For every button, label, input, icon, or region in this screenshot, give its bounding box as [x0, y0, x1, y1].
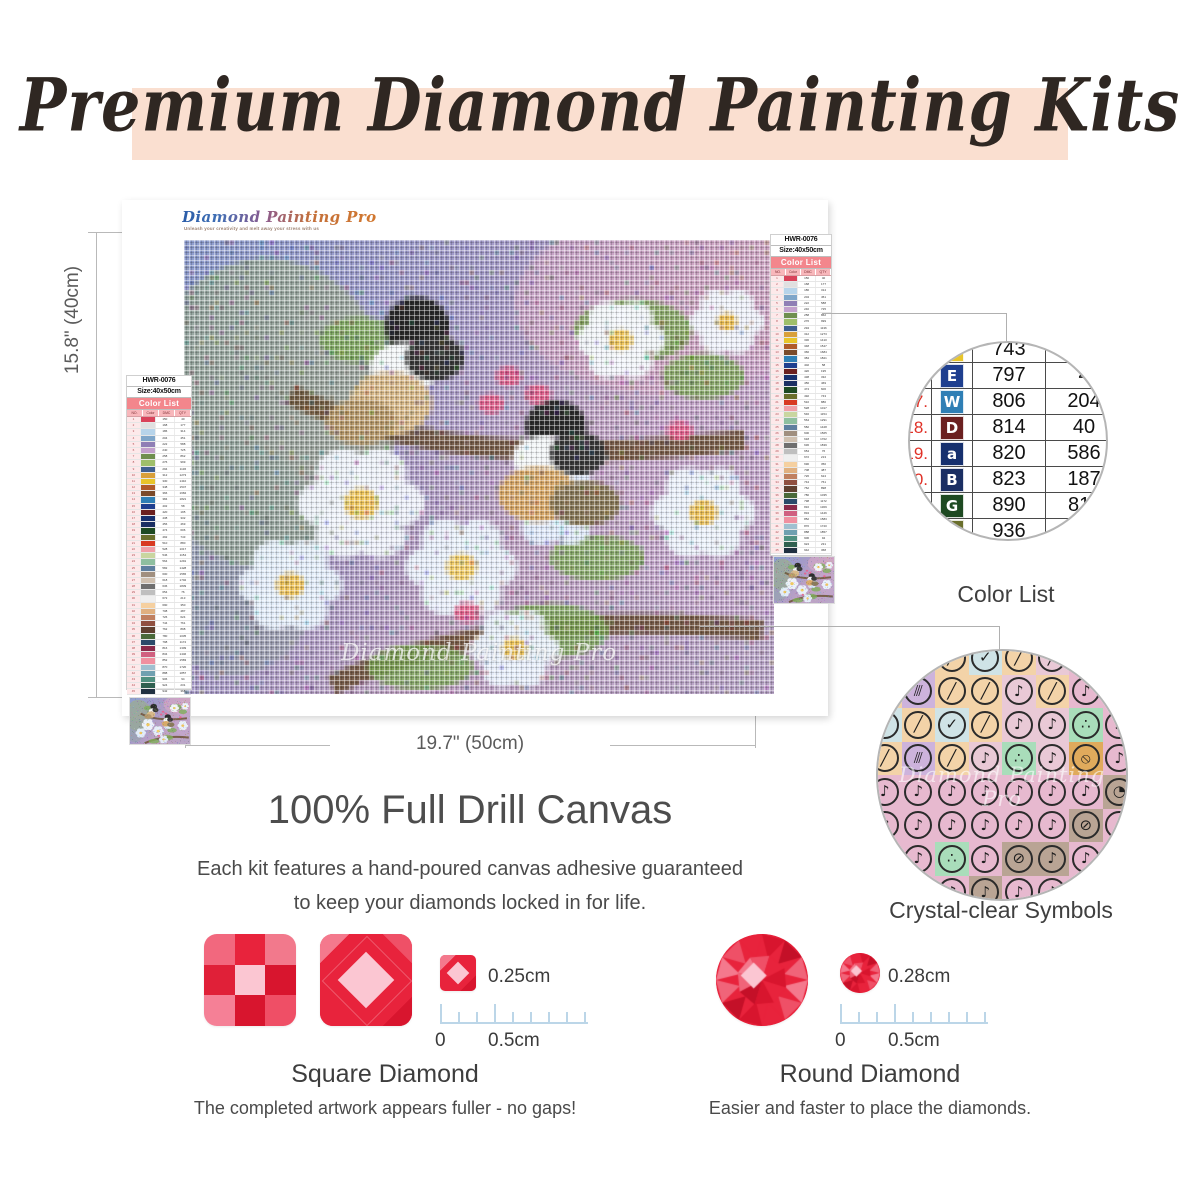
row-number: 4: [127, 436, 140, 441]
color-list-header-right: NO. Color DMC QTY: [771, 269, 831, 276]
dmc-count: 1702: [815, 437, 831, 442]
dmc-count: 1857: [174, 671, 191, 676]
dmc-code: 726: [156, 615, 174, 620]
row-number: 17: [771, 375, 783, 380]
ruler-tick-minor-5: [948, 1012, 950, 1022]
color-list-title-left: Color List: [127, 398, 191, 410]
row-number: 24: [771, 418, 783, 423]
row-number: 12: [771, 344, 783, 349]
dmc-count: 177: [174, 423, 191, 428]
ruler-tick-minor-2: [876, 1012, 878, 1022]
dmc-count: 350: [815, 462, 831, 467]
row-number: 9: [771, 326, 783, 331]
color-swatch: [140, 689, 156, 694]
symbol-cell: ♪: [969, 742, 1003, 776]
symbol-cell: ╱: [969, 675, 1003, 709]
row-number: 45: [127, 689, 140, 694]
color-swatch: [140, 646, 156, 651]
dmc-code: 438: [156, 516, 174, 521]
row-number: 22: [127, 547, 140, 552]
color-swatch: [783, 363, 798, 368]
row-number: 1.: [908, 493, 931, 518]
symbol-cell: ╱: [969, 708, 1003, 742]
color-swatch: [140, 683, 156, 688]
color-symbol-swatch: ◠: [931, 341, 973, 362]
symbol-cell: ╱: [1036, 675, 1070, 709]
dmc-code: 564: [156, 559, 174, 564]
dmc-code: 672: [798, 455, 815, 460]
row-number: 28: [127, 584, 140, 589]
ruler-tick-minor-3: [512, 1012, 514, 1022]
color-swatch: [783, 480, 798, 485]
dmc-count: 451: [174, 436, 191, 441]
symbol-cell: ⫻: [902, 742, 936, 776]
row-number: 23: [771, 412, 783, 417]
square-ruler: 0 0.5cm: [440, 1000, 588, 1056]
color-symbol-swatch: a: [931, 441, 973, 466]
dmc-code: 798: [156, 640, 174, 645]
dmc-count: 1136: [815, 326, 831, 331]
dmc-code: 510: [156, 541, 174, 546]
color-swatch: [140, 640, 156, 645]
dmc-count: 469: [815, 381, 831, 386]
color-swatch: [140, 454, 156, 459]
color-swatch: [140, 627, 156, 632]
dmc-code: 708: [798, 468, 815, 473]
color-list-row: 45942368: [127, 689, 191, 695]
square-gem-medium: [320, 934, 412, 1026]
connector-colorlist-h: [822, 313, 1007, 314]
dmc-count: 332: [174, 516, 191, 521]
mosaic-artwork: Diamond Painting Pro: [184, 240, 774, 694]
row-number: 16: [771, 369, 783, 374]
ruler-tick-minor-1: [858, 1012, 860, 1022]
dmc-count: 761: [174, 621, 191, 626]
ruler-tick-minor-7: [984, 1012, 986, 1022]
dmc-code: 743: [973, 341, 1046, 362]
row-number: 38: [127, 646, 140, 651]
color-swatch: [140, 497, 156, 502]
symbol-cell: ⊘: [1069, 809, 1103, 843]
dmc-count: 1154: [815, 412, 831, 417]
dmc-count: 743: [174, 535, 191, 540]
color-swatch: [783, 313, 798, 318]
dmc-code: 888: [156, 671, 174, 676]
dmc-code: 384: [798, 356, 815, 361]
symbol-cell: ╱: [935, 675, 969, 709]
row-number: 3: [771, 288, 783, 293]
dmc-count: 898: [174, 627, 191, 632]
row-number: 44: [771, 542, 783, 547]
dmc-code: 204: [798, 295, 815, 300]
row-number: 14: [771, 356, 783, 361]
dmc-code: 384: [156, 497, 174, 502]
dmc-count: 999: [174, 460, 191, 465]
round-gem-large: [716, 934, 808, 1026]
dmc-count: 177: [815, 282, 831, 287]
dmc-count: 1839: [815, 443, 831, 448]
row-number: [908, 363, 931, 388]
symbol-cell: ◔: [1103, 775, 1129, 809]
dmc-code: 168: [798, 282, 815, 287]
color-list-rows-right: 1150402168177318631442044515222588624072…: [771, 276, 831, 554]
dmc-code: 744: [798, 480, 815, 485]
dmc-count: 1428: [174, 566, 191, 571]
col-qty: QTY: [816, 269, 831, 275]
row-number: 11: [127, 479, 140, 484]
color-swatch: [783, 344, 798, 349]
square-diamond-description: The completed artwork appears fuller - n…: [100, 1098, 670, 1119]
color-swatch: [140, 634, 156, 639]
col-no: NO.: [771, 269, 786, 275]
color-swatch: [783, 455, 798, 460]
row-number: 9: [127, 467, 140, 472]
dmc-code: 797: [973, 363, 1046, 388]
dmc-count: 1720: [815, 524, 831, 529]
dmc-code: 780: [156, 634, 174, 639]
dmc-count: 586: [1046, 441, 1108, 466]
dmc-count: 1583: [815, 517, 831, 522]
color-swatch: [140, 652, 156, 657]
dmc-count: 187: [1046, 467, 1108, 492]
symbol-cell: ♪: [1069, 842, 1103, 876]
row-number: 12: [127, 485, 140, 490]
row-number: 30: [771, 455, 783, 460]
dmc-count: 1273: [174, 473, 191, 478]
dmc-count: 1583: [174, 658, 191, 663]
color-swatch: [783, 536, 798, 541]
color-symbol-swatch: B: [931, 467, 973, 492]
dmc-code: 834: [156, 652, 174, 657]
row-number: [908, 519, 931, 541]
round-ruler-zero: 0: [835, 1030, 846, 1052]
color-swatch: [140, 504, 156, 509]
dmc-code: 168: [156, 423, 174, 428]
dmc-code: 420: [798, 369, 815, 374]
dmc-count: 469: [174, 522, 191, 527]
dmc-count: 1410: [815, 338, 831, 343]
color-swatch: [140, 615, 156, 620]
row-number: 41: [771, 524, 783, 529]
ruler-tick-minor-6: [566, 1012, 568, 1022]
color-swatch: [783, 332, 798, 337]
symbol-cell: ♪: [1069, 775, 1103, 809]
symbol-cell: ♪: [876, 809, 902, 843]
color-swatch: [783, 517, 798, 522]
row-number: 22: [771, 406, 783, 411]
symbol-cell: ⦸: [1069, 742, 1103, 776]
row-number: 1: [127, 417, 140, 422]
dmc-count: 40: [174, 417, 191, 422]
dmc-count: 76: [174, 590, 191, 595]
dmc-code: 312: [798, 332, 815, 337]
symbol-cell: ⫻: [902, 675, 936, 709]
kit-size-left: Size:40x50cm: [127, 387, 191, 398]
dmc-count: 76: [815, 449, 831, 454]
dmc-code: 726: [798, 474, 815, 479]
magnified-color-table: ◠743E79747.W80620418.D8144019.a82058620.…: [908, 341, 1108, 541]
dmc-count: 368: [174, 689, 191, 694]
dmc-count: 1720: [174, 665, 191, 670]
col-no: NO.: [127, 410, 143, 416]
ruler-tick-minor-1: [458, 1012, 460, 1022]
dmc-code: 474: [156, 528, 174, 533]
dmc-code: 690: [156, 603, 174, 608]
drill-grid-overlay: [184, 240, 774, 694]
color-swatch: [783, 524, 798, 529]
row-number: 21: [127, 541, 140, 546]
dmc-count: 624: [174, 615, 191, 620]
col-dmc: DMC: [159, 410, 175, 416]
color-symbol-swatch: C: [931, 519, 973, 541]
dmc-count: 40: [815, 276, 831, 281]
dmc-count: 880: [815, 400, 831, 405]
dmc-count: 9: [1046, 519, 1108, 541]
dmc-count: 1410: [174, 479, 191, 484]
color-swatch: [783, 462, 798, 467]
color-swatch: [140, 572, 156, 577]
dmc-count: 1291: [174, 559, 191, 564]
symbol-cell: ♪: [1002, 708, 1036, 742]
row-number: 24: [127, 559, 140, 564]
dmc-count: 231: [815, 542, 831, 547]
dmc-count: 487: [174, 609, 191, 614]
color-swatch: [140, 541, 156, 546]
dmc-count: 761: [815, 480, 831, 485]
dmc-code: 618: [798, 437, 815, 442]
row-number: 30: [127, 596, 140, 601]
dmc-count: 451: [815, 295, 831, 300]
color-swatch: [140, 559, 156, 564]
dmc-code: 852: [156, 658, 174, 663]
dmc-code: 420: [156, 510, 174, 515]
color-list-title-right: Color List: [771, 257, 831, 269]
row-number: 7: [127, 454, 140, 459]
ruler-tick-minor-4: [530, 1012, 532, 1022]
color-swatch: [140, 584, 156, 589]
symbol-cell: ♪: [1103, 708, 1129, 742]
col-dmc: DMC: [801, 269, 816, 275]
round-gem-small: [840, 953, 880, 993]
dmc-count: 204: [1046, 389, 1108, 414]
dmc-code: 806: [973, 389, 1046, 414]
color-swatch: [783, 412, 798, 417]
row-number: 8: [771, 319, 783, 324]
dmc-code: 258: [798, 313, 815, 318]
symbol-cell: ♪: [1036, 775, 1070, 809]
row-number: 26: [127, 572, 140, 577]
color-swatch: [140, 516, 156, 521]
square-diamond-title: Square Diamond: [130, 1060, 640, 1089]
dmc-count: 213: [174, 596, 191, 601]
dmc-code: 708: [156, 609, 174, 614]
symbol-cell: ♪: [969, 775, 1003, 809]
canvas-sheet[interactable]: Diamond Painting Pro Unleash your creati…: [122, 200, 828, 716]
magnified-color-row: 18.D81440: [908, 415, 1108, 441]
dmc-count: 1565: [174, 572, 191, 577]
col-color: Color: [786, 269, 801, 275]
dmc-code: 890: [973, 493, 1046, 518]
color-swatch: [140, 609, 156, 614]
color-swatch: [783, 282, 798, 287]
dmc-code: 823: [973, 467, 1046, 492]
color-swatch: [783, 400, 798, 405]
dmc-code: 942: [156, 689, 174, 694]
dmc-code: 402: [798, 363, 815, 368]
dmc-code: 618: [156, 578, 174, 583]
row-number: 19: [771, 387, 783, 392]
round-size-label: 0.28cm: [888, 966, 950, 988]
dmc-code: 348: [156, 485, 174, 490]
dmc-code: 510: [798, 400, 815, 405]
kit-code-right: HWR-0076: [771, 235, 831, 246]
dmc-count: 1017: [815, 406, 831, 411]
dmc-code: 546: [798, 412, 815, 417]
round-ruler: 0 0.5cm: [840, 1000, 988, 1056]
dmc-count: 1309: [174, 646, 191, 651]
dmc-count: 1172: [174, 640, 191, 645]
color-swatch: [140, 467, 156, 472]
dmc-code: 366: [156, 491, 174, 496]
color-swatch: [140, 578, 156, 583]
color-list-strip-right[interactable]: HWR-0076 Size:40x50cm Color List NO. Col…: [770, 234, 832, 556]
magnified-color-row: 7.W806204: [908, 389, 1108, 415]
symbol-cell: ♪: [902, 775, 936, 809]
row-number: 35: [127, 627, 140, 632]
dmc-code: 636: [798, 443, 815, 448]
row-number: 27: [127, 578, 140, 583]
row-number: 2: [771, 282, 783, 287]
color-swatch: [783, 418, 798, 423]
color-swatch: [783, 276, 798, 281]
square-gem-small: [440, 955, 476, 991]
color-swatch: [783, 301, 798, 306]
color-swatch: [140, 460, 156, 465]
kit-code-left: HWR-0076: [127, 376, 191, 387]
dmc-count: 1273: [815, 332, 831, 337]
dmc-code: 936: [973, 519, 1046, 541]
ruler-tick-major-0: [440, 1004, 442, 1022]
artwork-watermark: Diamond Painting Pro: [184, 640, 774, 666]
dmc-count: 332: [815, 375, 831, 380]
caption-color-list: Color List: [860, 581, 1152, 608]
symbol-cell: ♪: [902, 842, 936, 876]
row-number: 8: [127, 460, 140, 465]
dmc-count: 1446: [174, 652, 191, 657]
dmc-count: 1291: [815, 418, 831, 423]
symbol-cell: ∴: [1069, 708, 1103, 742]
symbol-cell: ╱: [902, 649, 936, 675]
color-swatch: [140, 566, 156, 571]
dmc-count: 1821: [815, 356, 831, 361]
dmc-count: 1017: [174, 547, 191, 552]
dmc-code: 924: [156, 683, 174, 688]
dmc-code: 942: [798, 548, 815, 553]
dmc-code: 780: [798, 493, 815, 498]
dmc-code: 654: [798, 449, 815, 454]
col-color: Color: [143, 410, 159, 416]
symbol-cell: ✓: [935, 708, 969, 742]
color-swatch: [140, 417, 156, 422]
color-symbol-swatch: G: [931, 493, 973, 518]
row-number: 40: [127, 658, 140, 663]
color-swatch: [783, 449, 798, 454]
row-number: 6: [127, 448, 140, 453]
dmc-code: 600: [798, 431, 815, 436]
dmc-code: 798: [798, 499, 815, 504]
symbol-cell: ♪: [1002, 675, 1036, 709]
symbol-cell: ♪: [1002, 775, 1036, 809]
row-number: 2: [127, 423, 140, 428]
symbol-cell: ⊘: [1002, 842, 1036, 876]
dmc-code: 816: [156, 646, 174, 651]
artwork-thumbnail-left: [129, 697, 191, 745]
dmc-count: 213: [815, 455, 831, 460]
full-drill-line2: to keep your diamonds locked in for life…: [100, 892, 840, 915]
row-number: 39: [771, 511, 783, 516]
dmc-code: 546: [156, 553, 174, 558]
color-swatch: [783, 406, 798, 411]
dmc-code: 600: [156, 572, 174, 577]
row-number: 21: [771, 400, 783, 405]
symbol-cell: ♪: [1069, 649, 1103, 675]
kit-size-right: Size:40x50cm: [771, 246, 831, 257]
color-swatch: [783, 511, 798, 516]
dmc-code: 186: [798, 288, 815, 293]
dmc-count: 314: [174, 429, 191, 434]
ruler-tick-minor-6: [966, 1012, 968, 1022]
round-diamond-title: Round Diamond: [620, 1060, 1120, 1089]
symbol-cell: ♪: [969, 842, 1003, 876]
color-list-row: 45942368: [771, 548, 831, 554]
magnified-color-row: C9369: [908, 519, 1108, 541]
symbol-cell: ♪: [1103, 675, 1129, 709]
col-qty: QTY: [175, 410, 191, 416]
color-swatch: [140, 522, 156, 527]
dmc-count: 880: [174, 541, 191, 546]
dmc-code: 276: [798, 319, 815, 324]
symbol-cell: ╱: [1036, 649, 1070, 675]
row-number: 15: [127, 504, 140, 509]
dmc-count: 1035: [815, 493, 831, 498]
color-swatch: [140, 535, 156, 540]
dmc-count: 40: [1046, 415, 1108, 440]
ruler-baseline: [840, 1022, 988, 1024]
symbol-cell: ♪: [1036, 842, 1070, 876]
dmc-count: 314: [815, 288, 831, 293]
color-swatch: [783, 505, 798, 510]
dmc-count: 624: [815, 474, 831, 479]
row-number: 18.: [908, 415, 931, 440]
color-swatch: [140, 423, 156, 428]
dmc-code: 150: [798, 276, 815, 281]
symbol-cell: ╱: [1002, 649, 1036, 675]
color-swatch: [140, 553, 156, 558]
color-swatch: [783, 295, 798, 300]
infographic-root: Premium Diamond Painting Kits 15.8" (40c…: [0, 0, 1200, 1200]
dmc-code: 814: [973, 415, 1046, 440]
ruler-tick-major-1: [894, 1004, 896, 1022]
dmc-code: 582: [798, 425, 815, 430]
row-number: 25: [771, 425, 783, 430]
dmc-code: 924: [798, 542, 815, 547]
row-number: 34: [127, 621, 140, 626]
color-swatch: [140, 596, 156, 601]
color-swatch: [140, 665, 156, 670]
row-number: 19: [127, 528, 140, 533]
color-swatch: [140, 442, 156, 447]
color-list-strip-left[interactable]: HWR-0076 Size:40x50cm Color List NO. Col…: [126, 375, 192, 690]
